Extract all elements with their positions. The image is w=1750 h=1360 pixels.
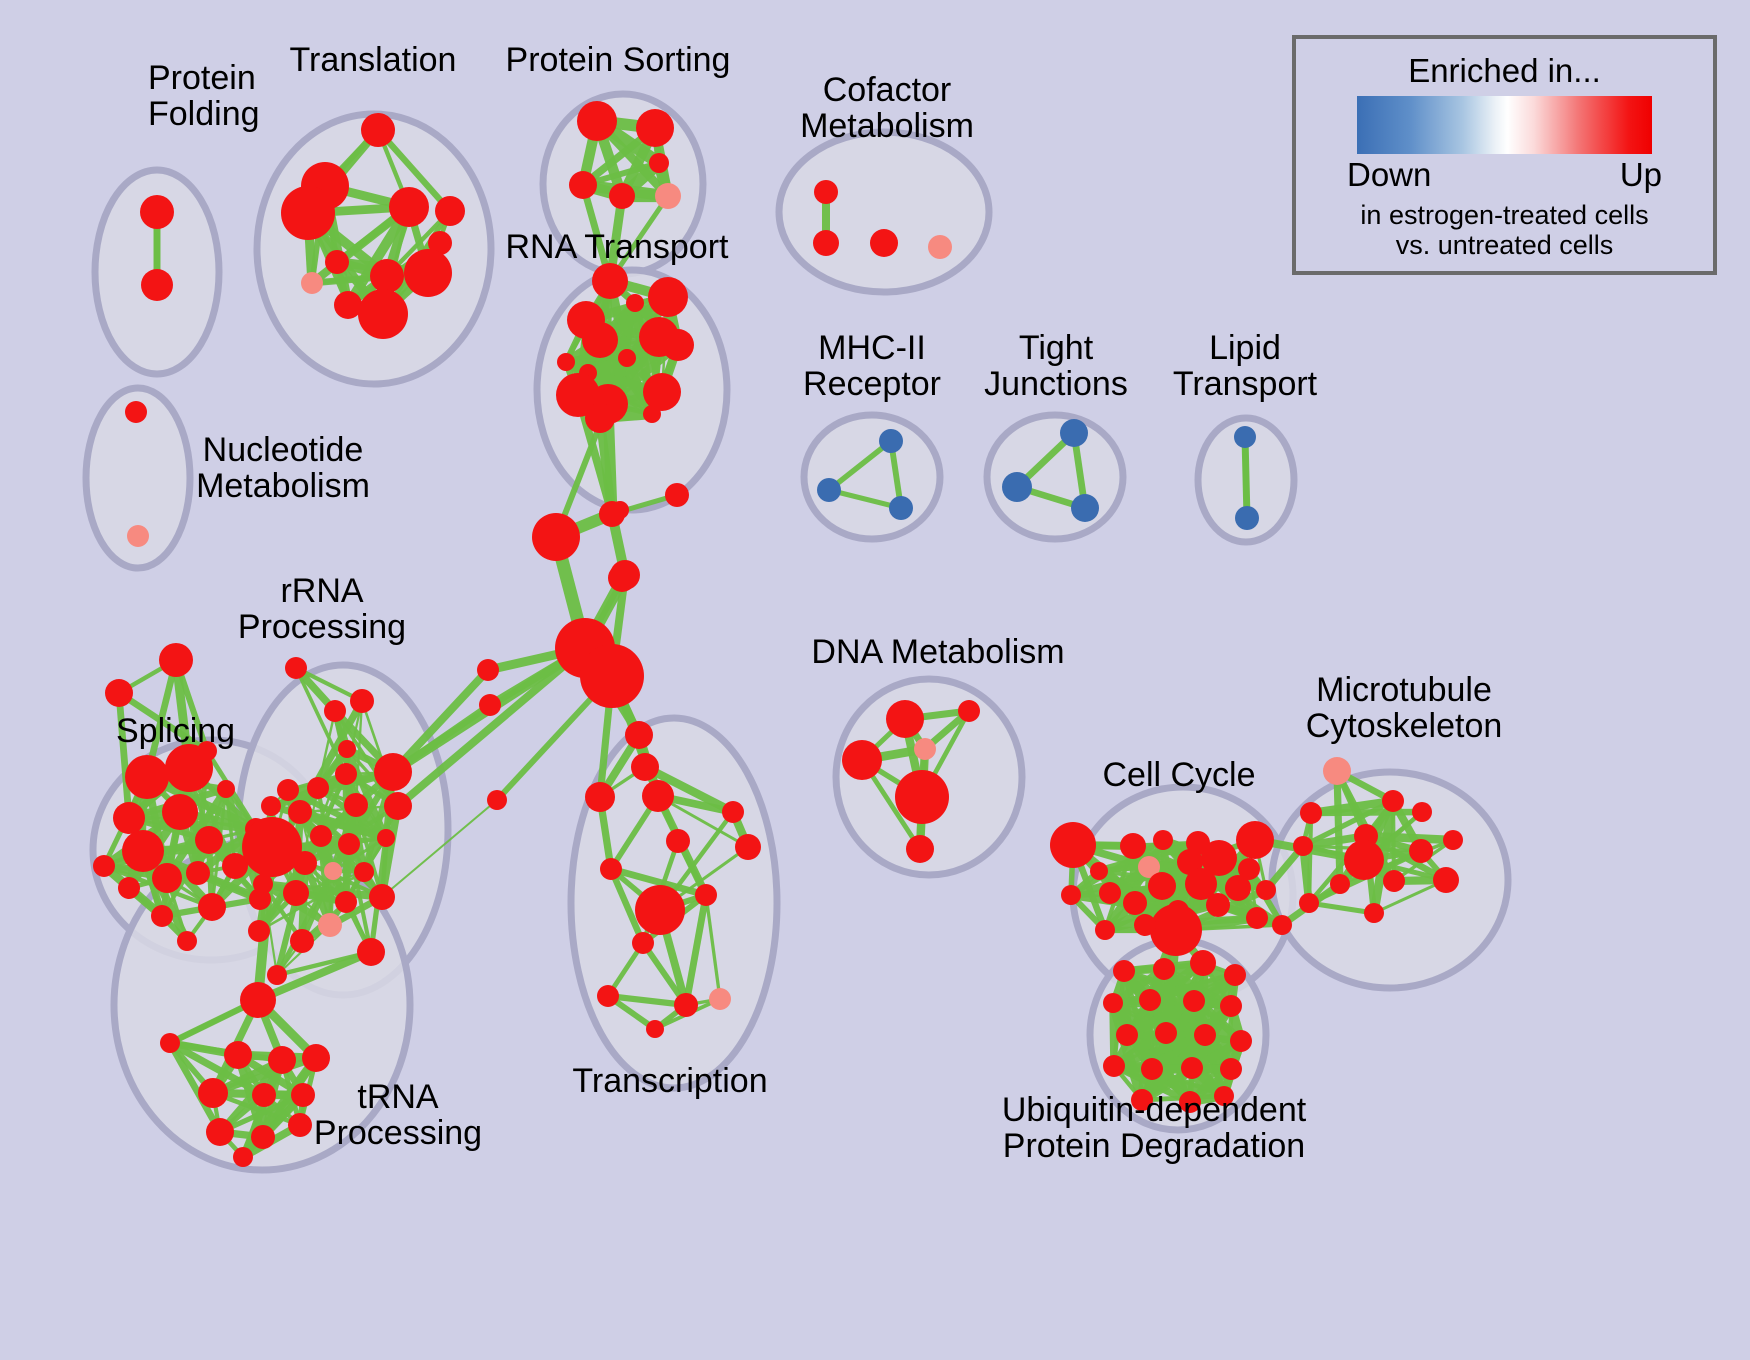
node-splicing[interactable] [125,755,169,799]
node-transcription[interactable] [600,858,622,880]
cluster-label-rrna-processing: rRNA Processing [238,573,406,646]
node-splicing[interactable] [186,861,210,885]
node-mhc-ii-receptor[interactable] [879,429,903,453]
node-rrna-processing[interactable] [384,792,412,820]
node-cell-cycle[interactable] [1120,833,1146,859]
node-mhc-ii-receptor[interactable] [889,496,913,520]
node-cofactor-metabolism[interactable] [870,229,898,257]
edge [1245,437,1247,518]
node-transcription[interactable] [625,721,653,749]
node-backbone[interactable] [479,694,501,716]
node-rna-transport[interactable] [585,403,615,433]
node-transcription[interactable] [642,780,674,812]
node-ubiquitin-degradation[interactable] [1141,1058,1163,1080]
node-trna-processing[interactable] [288,1113,312,1137]
node-translation[interactable] [370,259,404,293]
node-cell-cycle[interactable] [1099,882,1121,904]
cluster-label-transcription: Transcription [572,1063,767,1099]
node-ubiquitin-degradation[interactable] [1153,958,1175,980]
node-microtubule-cytoskeleton[interactable] [1443,830,1463,850]
node-cofactor-metabolism[interactable] [814,180,838,204]
node-dna-metabolism[interactable] [895,770,949,824]
node-microtubule-cytoskeleton[interactable] [1344,840,1384,880]
node-microtubule-cytoskeleton[interactable] [1382,790,1404,812]
cluster-ellipse-translation [257,114,491,384]
node-splicing[interactable] [151,905,173,927]
node-rrna-processing[interactable] [307,777,329,799]
node-transcription[interactable] [665,483,689,507]
node-protein-sorting[interactable] [655,183,681,209]
node-splicing[interactable] [217,780,235,798]
node-protein-sorting[interactable] [609,183,635,209]
node-rrna-processing[interactable] [335,763,357,785]
node-cell-cycle[interactable] [1095,920,1115,940]
node-translation[interactable] [325,250,349,274]
node-rrna-processing[interactable] [357,938,385,966]
node-splicing[interactable] [93,855,115,877]
node-cell-cycle[interactable] [1123,891,1147,915]
node-backbone[interactable] [487,790,507,810]
node-protein-sorting[interactable] [636,109,674,147]
node-rrna-processing[interactable] [374,753,412,791]
cluster-label-translation: Translation [290,42,457,78]
node-microtubule-cytoskeleton[interactable] [1383,870,1405,892]
cluster-ellipse-cofactor-metabolism [779,132,989,292]
node-rna-transport[interactable] [618,349,636,367]
node-trna-processing[interactable] [302,1044,330,1072]
node-backbone[interactable] [477,659,499,681]
node-translation[interactable] [301,272,323,294]
node-dna-metabolism[interactable] [842,740,882,780]
cluster-label-ubiquitin-degradation: Ubiquitin-dependent Protein Degradation [1002,1092,1306,1165]
node-rna-transport[interactable] [592,263,628,299]
node-protein-sorting[interactable] [577,101,617,141]
node-trna-processing[interactable] [252,1083,276,1107]
node-rrna-processing[interactable] [344,793,368,817]
node-microtubule-cytoskeleton[interactable] [1409,839,1433,863]
node-rna-transport[interactable] [582,322,618,358]
node-rrna-processing[interactable] [354,862,374,882]
node-splicing[interactable] [105,679,133,707]
legend-box: Enriched in... Down Up in estrogen-treat… [1292,35,1717,275]
node-translation[interactable] [404,249,452,297]
node-rrna-processing[interactable] [324,862,342,880]
node-cell-cycle[interactable] [1256,880,1276,900]
node-rrna-processing[interactable] [318,913,342,937]
legend-sublabel-2: vs. untreated cells [1296,230,1713,260]
cluster-label-microtubule-cytoskeleton: Microtubule Cytoskeleton [1306,672,1503,745]
node-microtubule-cytoskeleton[interactable] [1299,893,1319,913]
node-nucleotide-metabolism[interactable] [127,525,149,547]
node-backbone[interactable] [611,501,629,519]
node-splicing[interactable] [152,863,182,893]
legend-low-label: Down [1347,156,1431,194]
node-microtubule-cytoskeleton[interactable] [1300,802,1322,824]
node-cell-cycle[interactable] [1206,893,1230,917]
node-splicing[interactable] [195,826,223,854]
node-translation[interactable] [281,186,335,240]
node-ubiquitin-degradation[interactable] [1103,1055,1125,1077]
node-transcription[interactable] [735,834,761,860]
node-protein-folding[interactable] [141,269,173,301]
node-rrna-processing[interactable] [261,796,281,816]
node-rrna-processing[interactable] [277,779,299,801]
node-rrna-processing[interactable] [290,929,314,953]
node-rrna-processing[interactable] [267,965,287,985]
node-rna-transport[interactable] [662,329,694,361]
node-rrna-processing[interactable] [338,833,360,855]
cluster-label-rna-transport: RNA Transport [506,229,729,265]
node-transcription[interactable] [709,988,731,1010]
node-translation[interactable] [334,291,362,319]
node-microtubule-cytoskeleton[interactable] [1412,802,1432,822]
node-rna-transport[interactable] [643,373,681,411]
node-cell-cycle[interactable] [1236,821,1274,859]
color-scale-bar [1357,96,1652,154]
node-trna-processing[interactable] [224,1041,252,1069]
node-rrna-processing[interactable] [285,657,307,679]
node-ubiquitin-degradation[interactable] [1103,993,1123,1013]
cluster-label-mhc-ii-receptor: MHC-II Receptor [803,330,941,403]
node-translation[interactable] [358,289,408,339]
node-cell-cycle[interactable] [1153,830,1173,850]
node-cell-cycle[interactable] [1050,822,1096,868]
node-rrna-processing[interactable] [338,740,356,758]
node-transcription[interactable] [597,985,619,1007]
node-cell-cycle[interactable] [1061,885,1081,905]
node-transcription[interactable] [666,829,690,853]
node-transcription[interactable] [646,1020,664,1038]
node-rrna-processing[interactable] [350,689,374,713]
node-protein-sorting[interactable] [649,153,669,173]
cluster-label-cofactor-metabolism: Cofactor Metabolism [800,72,974,145]
node-backbone[interactable] [608,564,636,592]
node-trna-processing[interactable] [268,1046,296,1074]
node-transcription[interactable] [632,932,654,954]
node-trna-processing[interactable] [206,1118,234,1146]
legend-high-label: Up [1620,156,1662,194]
node-ubiquitin-degradation[interactable] [1139,989,1161,1011]
node-microtubule-cytoskeleton[interactable] [1323,757,1351,785]
node-transcription[interactable] [635,885,685,935]
node-trna-processing[interactable] [251,1125,275,1149]
node-cell-cycle[interactable] [1150,904,1202,956]
cluster-label-splicing: Splicing [116,713,235,749]
node-cell-cycle[interactable] [1148,872,1176,900]
node-tight-junctions[interactable] [1071,494,1099,522]
node-dna-metabolism[interactable] [906,835,934,863]
node-translation[interactable] [389,187,429,227]
node-trna-processing[interactable] [198,1078,228,1108]
node-splicing[interactable] [159,643,193,677]
node-tight-junctions[interactable] [1002,472,1032,502]
node-ubiquitin-degradation[interactable] [1220,995,1242,1017]
node-ubiquitin-degradation[interactable] [1194,1024,1216,1046]
node-splicing[interactable] [122,830,164,872]
node-cell-cycle[interactable] [1134,914,1156,936]
node-cell-cycle[interactable] [1272,915,1292,935]
node-rrna-processing[interactable] [310,825,332,847]
cluster-label-cell-cycle: Cell Cycle [1102,757,1255,793]
node-splicing[interactable] [177,931,197,951]
node-splicing[interactable] [118,877,140,899]
node-ubiquitin-degradation[interactable] [1224,964,1246,986]
node-transcription[interactable] [695,884,717,906]
cluster-label-protein-folding: Protein Folding [148,60,260,133]
node-splicing[interactable] [165,744,213,792]
node-mhc-ii-receptor[interactable] [817,478,841,502]
node-tight-junctions[interactable] [1060,419,1088,447]
node-rrna-processing[interactable] [369,884,395,910]
node-lipid-transport[interactable] [1235,506,1259,530]
cluster-label-trna-processing: tRNA Processing [314,1079,482,1152]
cluster-label-nucleotide-metabolism: Nucleotide Metabolism [196,432,370,505]
node-rrna-processing[interactable] [288,800,312,824]
node-translation[interactable] [435,196,465,226]
node-ubiquitin-degradation[interactable] [1113,960,1135,982]
node-cell-cycle[interactable] [1090,862,1108,880]
node-cell-cycle[interactable] [1225,875,1251,901]
node-ubiquitin-degradation[interactable] [1230,1030,1252,1052]
node-ubiquitin-degradation[interactable] [1220,1058,1242,1080]
node-dna-metabolism[interactable] [886,700,924,738]
node-protein-sorting[interactable] [569,171,597,199]
cluster-label-protein-sorting: Protein Sorting [506,42,731,78]
node-trna-processing[interactable] [160,1033,180,1053]
legend-title: Enriched in... [1296,52,1713,90]
node-microtubule-cytoskeleton[interactable] [1293,836,1313,856]
node-splicing[interactable] [162,794,198,830]
node-dna-metabolism[interactable] [958,700,980,722]
node-cofactor-metabolism[interactable] [928,235,952,259]
node-ubiquitin-degradation[interactable] [1155,1022,1177,1044]
node-backbone[interactable] [532,513,580,561]
node-microtubule-cytoskeleton[interactable] [1433,867,1459,893]
node-rrna-processing[interactable] [377,829,395,847]
node-trna-processing[interactable] [291,1083,315,1107]
cluster-ellipse-mhc-ii-receptor [804,415,940,539]
node-transcription[interactable] [722,801,744,823]
node-transcription[interactable] [580,644,644,708]
cluster-label-dna-metabolism: DNA Metabolism [811,634,1064,670]
node-transcription[interactable] [674,993,698,1017]
node-cell-cycle[interactable] [1246,907,1268,929]
legend-sublabel-1: in estrogen-treated cells [1296,200,1713,230]
node-ubiquitin-degradation[interactable] [1181,1057,1203,1079]
enrichment-map-figure: Enriched in... Down Up in estrogen-treat… [0,0,1750,1360]
node-rrna-processing[interactable] [248,920,270,942]
node-cofactor-metabolism[interactable] [813,230,839,256]
node-transcription[interactable] [631,753,659,781]
node-rrna-processing[interactable] [242,817,302,877]
node-rna-transport[interactable] [557,353,575,371]
node-rrna-processing[interactable] [324,700,346,722]
node-nucleotide-metabolism[interactable] [125,401,147,423]
cluster-label-lipid-transport: Lipid Transport [1173,330,1317,403]
node-rrna-processing[interactable] [253,874,273,894]
node-ubiquitin-degradation[interactable] [1116,1024,1138,1046]
node-translation[interactable] [361,113,395,147]
node-microtubule-cytoskeleton[interactable] [1364,903,1384,923]
node-dna-metabolism[interactable] [914,738,936,760]
node-ubiquitin-degradation[interactable] [1190,950,1216,976]
node-lipid-transport[interactable] [1234,426,1256,448]
node-splicing[interactable] [113,802,145,834]
node-rrna-processing[interactable] [293,851,317,875]
node-protein-folding[interactable] [140,195,174,229]
node-rna-transport[interactable] [643,405,661,423]
node-microtubule-cytoskeleton[interactable] [1330,874,1350,894]
node-splicing[interactable] [198,893,226,921]
node-rrna-processing[interactable] [283,880,309,906]
node-rna-transport[interactable] [648,277,688,317]
node-trna-processing[interactable] [240,982,276,1018]
node-transcription[interactable] [585,782,615,812]
cluster-label-tight-junctions: Tight Junctions [984,330,1128,403]
node-trna-processing[interactable] [233,1147,253,1167]
node-ubiquitin-degradation[interactable] [1183,990,1205,1012]
edge [1311,812,1422,813]
node-rrna-processing[interactable] [335,891,357,913]
node-rna-transport[interactable] [626,294,644,312]
